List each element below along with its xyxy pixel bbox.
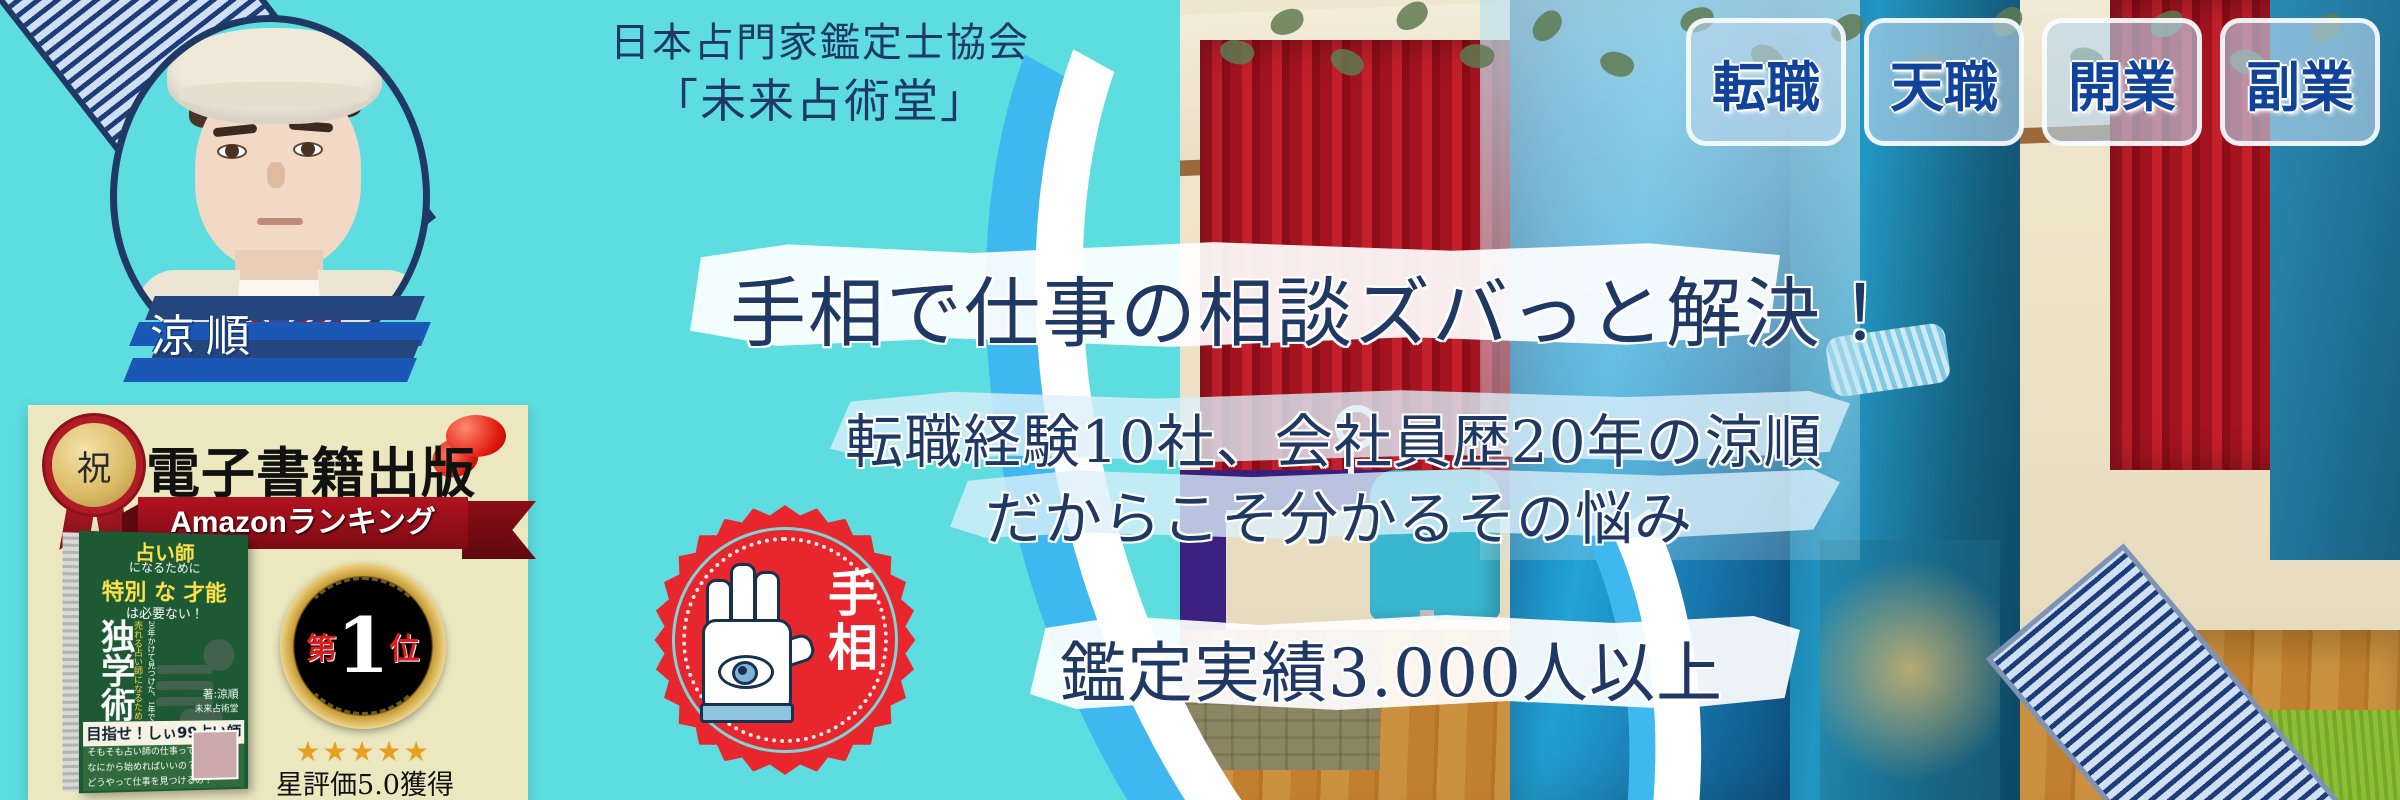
chip-label: 天職 bbox=[1890, 43, 1998, 122]
publish-title: 電子書籍出版 bbox=[146, 429, 476, 508]
palm-hand-icon bbox=[692, 551, 800, 719]
rating-text: 星評価5.0獲得 bbox=[260, 763, 470, 800]
chip-kaigyou[interactable]: 開業 bbox=[2042, 18, 2202, 146]
profile-name: 涼順 bbox=[150, 300, 330, 364]
seal-label: 手相 bbox=[816, 567, 890, 675]
medal-rank-suffix: 位 bbox=[389, 624, 419, 668]
cover-author-photo bbox=[192, 730, 239, 780]
rosette-label: 祝 bbox=[52, 423, 136, 507]
palmistry-seal: 手相 bbox=[650, 505, 920, 775]
keyword-chips: 転職 天職 開業 副業 bbox=[1686, 18, 2380, 146]
headline-sub-1: 転職経験10社、会社員歴20年の涼順 bbox=[845, 395, 1823, 479]
headline-sub-2: だからこそ分かるその悩み bbox=[985, 472, 1693, 556]
chip-tenshoku-vocation[interactable]: 天職 bbox=[1864, 18, 2024, 146]
cover-author: 著:涼順 未来占術堂 bbox=[195, 686, 239, 715]
cover-side-yellow: 売れる占い師になるための bbox=[132, 621, 143, 732]
author-org: 未来占術堂 bbox=[195, 701, 239, 714]
cover-big-title: 独学術 bbox=[83, 618, 132, 722]
association-line-1: 日本占門家鑑定士協会 bbox=[560, 14, 1080, 72]
fortune-telling-banner: 涼順 祝 電子書籍出版 Amazonランキング 占い師 になるために 特別 な … bbox=[0, 0, 2400, 800]
headline-record: 鑑定実績3.000人以上 bbox=[1060, 620, 1723, 716]
banner-tail-right bbox=[462, 501, 536, 559]
gold-embroidery-bottom bbox=[1820, 540, 2000, 800]
chip-tenshoku[interactable]: 転職 bbox=[1686, 18, 1846, 146]
rank-medal: 第 1 位 bbox=[280, 563, 446, 729]
headline-main: 手相で仕事の相談ズバっと解決！ bbox=[730, 252, 1900, 362]
chip-fukugyou[interactable]: 副業 bbox=[2220, 18, 2380, 146]
medal-rank-number: 1 bbox=[337, 611, 390, 681]
book-spine bbox=[62, 532, 79, 791]
association-title: 日本占門家鑑定士協会 「未来占術堂」 bbox=[560, 14, 1080, 130]
association-line-2: 「未来占術堂」 bbox=[560, 72, 1080, 130]
chip-label: 転職 bbox=[1712, 43, 1820, 122]
cover-obi: そもそも占い師の仕事って？ なにから始めればいいの？ どうやって仕事を見つけるの… bbox=[83, 744, 244, 792]
cover-side-white: 20年かけて見つけた、1年で bbox=[146, 621, 156, 733]
chip-label: 開業 bbox=[2068, 43, 2176, 122]
ebook-award-card: 祝 電子書籍出版 Amazonランキング 占い師 になるために 特別 な 才能 … bbox=[28, 405, 528, 800]
medal-rank-prefix: 第 bbox=[307, 624, 337, 668]
chip-label: 副業 bbox=[2246, 43, 2354, 122]
author-name: 著:涼順 bbox=[195, 686, 239, 702]
book-cover: 占い師 になるために 特別 な 才能 は必要ない！ 独学術 売れる占い師になるた… bbox=[79, 531, 248, 794]
